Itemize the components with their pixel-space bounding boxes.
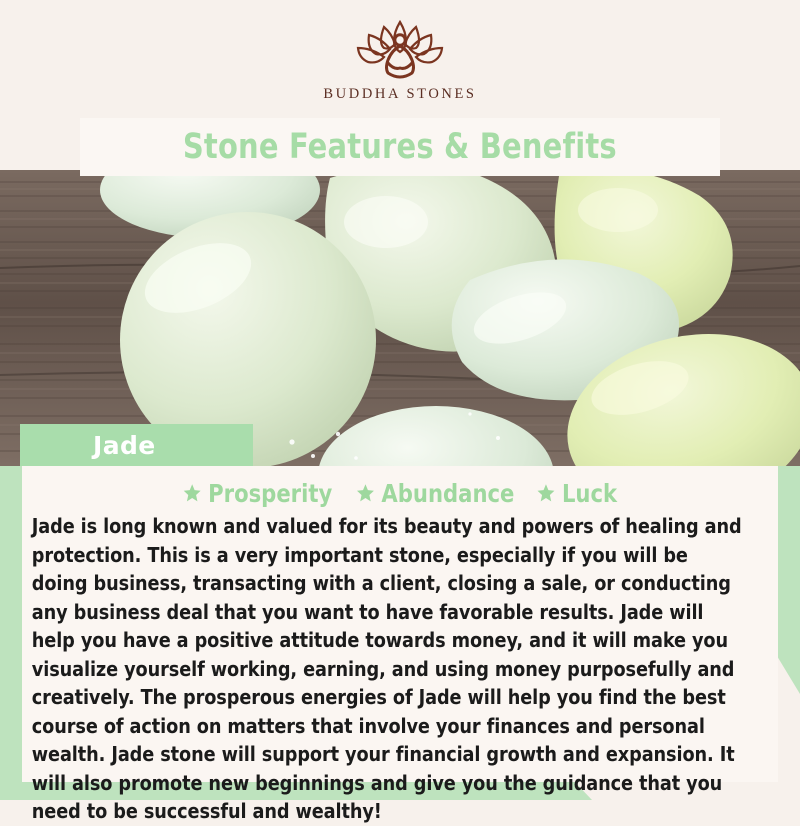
stone-photo xyxy=(0,170,800,466)
stone-photo-illustration xyxy=(0,170,800,466)
stone-name-badge: Jade xyxy=(20,424,253,466)
stone-description: Jade is long known and valued for its be… xyxy=(26,512,746,826)
star-icon xyxy=(357,483,376,503)
benefit-item-luck: Luck xyxy=(536,479,617,508)
brand-header: BUDDHA STONES xyxy=(0,0,800,118)
title-band: Stone Features & Benefits xyxy=(80,118,720,176)
benefit-item-abundance: Abundance xyxy=(357,479,515,508)
content-panel: ProsperityAbundanceLuck Jade is long kno… xyxy=(22,466,778,782)
benefit-label: Prosperity xyxy=(209,479,333,508)
brand-wordmark: BUDDHA STONES xyxy=(323,86,476,103)
benefit-item-prosperity: Prosperity xyxy=(183,479,332,508)
lotus-meditation-icon xyxy=(354,18,446,80)
page-title: Stone Features & Benefits xyxy=(183,127,617,167)
benefit-label: Abundance xyxy=(382,479,515,508)
star-icon xyxy=(183,483,202,503)
stone-name-label: Jade xyxy=(93,431,156,460)
benefits-list: ProsperityAbundanceLuck xyxy=(26,478,772,508)
star-icon xyxy=(536,483,555,503)
benefit-label: Luck xyxy=(562,479,617,508)
